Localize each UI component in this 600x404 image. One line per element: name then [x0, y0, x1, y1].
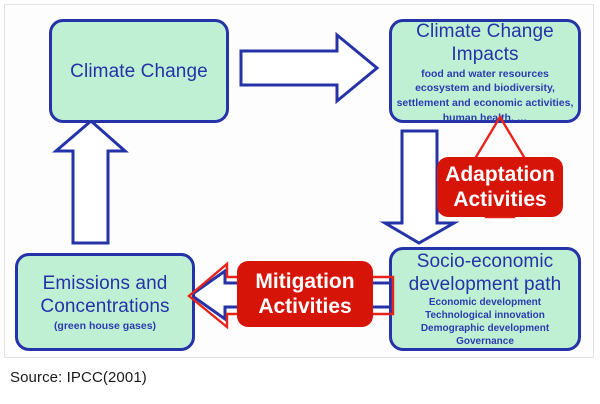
node-mitigation-activities[interactable]: Mitigation Activities — [237, 261, 373, 327]
diagram-frame: Climate Change Climate Change Impacts fo… — [4, 4, 594, 358]
node-adaptation-line1: Adaptation — [445, 162, 555, 187]
source-caption: Source: IPCC(2001) — [10, 369, 147, 386]
node-mitigation-line2: Activities — [258, 294, 351, 319]
node-adaptation-activities[interactable]: Adaptation Activities — [437, 157, 563, 217]
node-mitigation-line1: Mitigation — [255, 269, 354, 294]
node-adaptation-line2: Activities — [453, 187, 546, 212]
